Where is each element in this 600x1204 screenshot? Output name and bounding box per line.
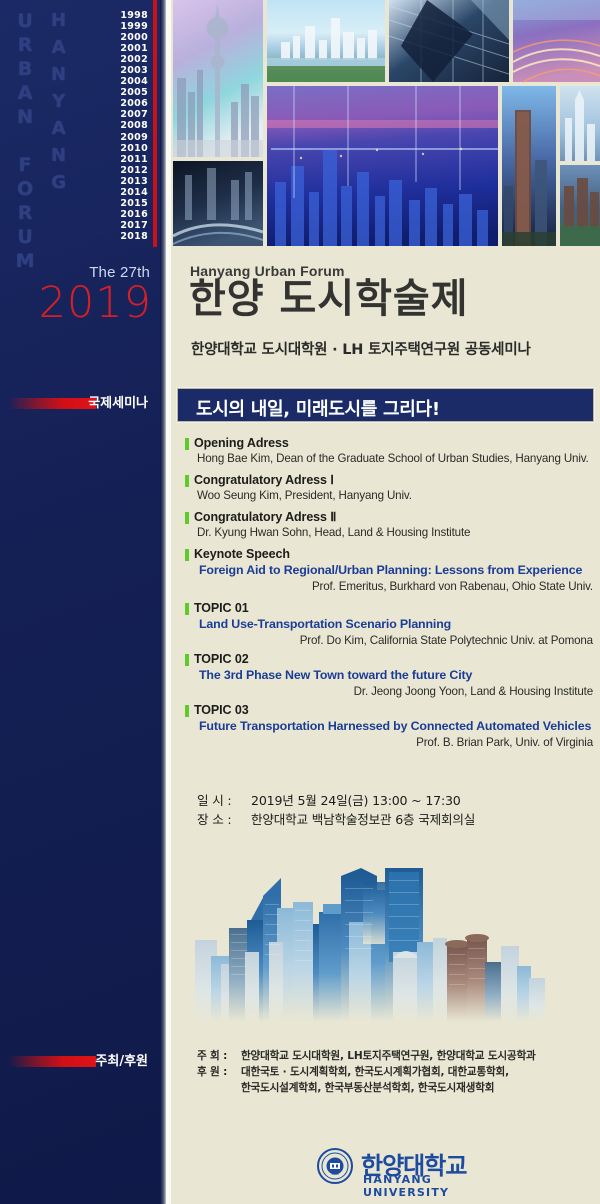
photo-collage <box>171 0 600 246</box>
collage-artwork <box>171 0 600 246</box>
red-gradient-bar-icon <box>8 398 96 409</box>
event-venue-row: 장 소 :한양대학교 백남학술정보관 6층 국제회의실 <box>197 810 475 829</box>
program-item-title: The 3rd Phase New Town toward the future… <box>185 667 595 684</box>
program-item-title: Foreign Aid to Regional/Urban Planning: … <box>185 562 595 579</box>
program-item: TOPIC 02 The 3rd Phase New Town toward t… <box>185 652 595 700</box>
program-item: Congratulatory Adress Ⅱ Dr. Kyung Hwan S… <box>185 510 595 541</box>
sponsor-label: 후 원 : <box>197 1064 241 1080</box>
logo-english-name: HANYANG UNIVERSITY <box>363 1173 517 1199</box>
tag-international-seminar-label: 국제세미나 <box>88 392 148 411</box>
program-list: Opening Adress Hong Bae Kim, Dean of the… <box>185 436 595 751</box>
program-item-title: Future Transportation Harnessed by Conne… <box>185 718 595 735</box>
content-panel: Hanyang Urban Forum 한양 도시학술제 한양대학교 도시대학원… <box>171 0 600 1204</box>
host-value: 한양대학교 도시대학원, LH토지주택연구원, 한양대학교 도시공학과 <box>241 1050 536 1062</box>
program-item-speaker: Prof. Do Kim, California State Polytechn… <box>185 633 595 649</box>
event-venue-label: 장 소 : <box>197 810 251 829</box>
edition-year-list: 1998 1999 2000 2001 2002 2003 2004 2005 … <box>96 10 148 242</box>
host-label: 주 회 : <box>197 1048 241 1064</box>
program-item-speaker: Prof. B. Brian Park, Univ. of Virginia <box>185 735 595 751</box>
hanyang-seal-icon: 1939 <box>317 1148 353 1184</box>
program-item: TOPIC 03 Future Transportation Harnessed… <box>185 703 595 751</box>
sponsor-row-continued: 한국도시설계학회, 한국부동산분석학회, 한국도시재생학회 <box>197 1080 536 1096</box>
program-item-head: Congratulatory Adress Ⅰ <box>185 473 595 488</box>
sponsor-row: 후 원 :대한국토 · 도시계획학회, 한국도시계획가협회, 대한교통학회, <box>197 1064 536 1080</box>
program-item-speaker: Dr. Jeong Joong Yoon, Land & Housing Ins… <box>185 684 595 700</box>
event-date-value: 2019년 5월 24일(금) 13:00 ~ 17:30 <box>251 793 461 808</box>
year-label: 2019 <box>0 278 152 328</box>
host-row: 주 회 :한양대학교 도시대학원, LH토지주택연구원, 한양대학교 도시공학과 <box>197 1048 536 1064</box>
slogan-text: 도시의 내일, 미래도시를 그리다! <box>196 395 440 421</box>
program-item-body: Dr. Kyung Hwan Sohn, Head, Land & Housin… <box>185 525 595 541</box>
program-item: Opening Adress Hong Bae Kim, Dean of the… <box>185 436 595 467</box>
program-item: Congratulatory Adress Ⅰ Woo Seung Kim, P… <box>185 473 595 504</box>
slogan-banner: 도시의 내일, 미래도시를 그리다! <box>177 388 594 422</box>
event-date-label: 일 시 : <box>197 791 251 810</box>
tag-host-sponsor: 주최/후원 <box>0 1050 160 1072</box>
program-item-speaker: Prof. Emeritus, Burkhard von Rabenau, Oh… <box>185 579 595 595</box>
page-title: 한양 도시학술제 <box>189 278 469 321</box>
program-item-head: Congratulatory Adress Ⅱ <box>185 510 595 525</box>
program-item-title: Land Use-Transportation Scenario Plannin… <box>185 616 595 633</box>
red-gradient-bar-icon <box>8 1056 96 1067</box>
tag-host-sponsor-label: 주최/후원 <box>95 1050 148 1069</box>
poster: HANYANG URBAN FORUM 1998 1999 2000 2001 … <box>0 0 600 1204</box>
program-item-head: Keynote Speech <box>185 547 595 562</box>
skyline-artwork <box>185 868 585 1030</box>
program-item-head: TOPIC 02 <box>185 652 595 667</box>
program-item-body: Woo Seung Kim, President, Hanyang Univ. <box>185 488 595 504</box>
program-item: Keynote Speech Foreign Aid to Regional/U… <box>185 547 595 595</box>
program-item-head: Opening Adress <box>185 436 595 451</box>
program-item-body: Hong Bae Kim, Dean of the Graduate Schoo… <box>185 451 595 467</box>
page-subtitle: 한양대학교 도시대학원 · LH 토지주택연구원 공동세미나 <box>191 338 531 359</box>
city-skyline-illustration <box>185 868 585 1030</box>
event-details: 일 시 :2019년 5월 24일(금) 13:00 ~ 17:30 장 소 :… <box>197 791 475 829</box>
vertical-brand-hanyang: HANYANG <box>50 10 67 199</box>
svg-text:1939: 1939 <box>331 1172 339 1176</box>
sponsor-value-line1: 대한국토 · 도시계획학회, 한국도시계획가협회, 대한교통학회, <box>241 1066 509 1078</box>
university-logo: 1939 한양대학교 HANYANG UNIVERSITY <box>317 1146 517 1190</box>
event-date-row: 일 시 :2019년 5월 24일(금) 13:00 ~ 17:30 <box>197 791 475 810</box>
red-vertical-stripe <box>153 0 157 247</box>
event-venue-value: 한양대학교 백남학술정보관 6층 국제회의실 <box>251 812 475 827</box>
program-item: TOPIC 01 Land Use-Transportation Scenari… <box>185 601 595 649</box>
program-item-head: TOPIC 03 <box>185 703 595 718</box>
tag-international-seminar: 국제세미나 <box>0 392 160 414</box>
program-item-head: TOPIC 01 <box>185 601 595 616</box>
credits-block: 주 회 :한양대학교 도시대학원, LH토지주택연구원, 한양대학교 도시공학과… <box>197 1048 536 1096</box>
vertical-brand-urban-forum: URBAN FORUM <box>16 10 34 274</box>
vertical-brand-title: HANYANG URBAN FORUM <box>8 6 108 246</box>
